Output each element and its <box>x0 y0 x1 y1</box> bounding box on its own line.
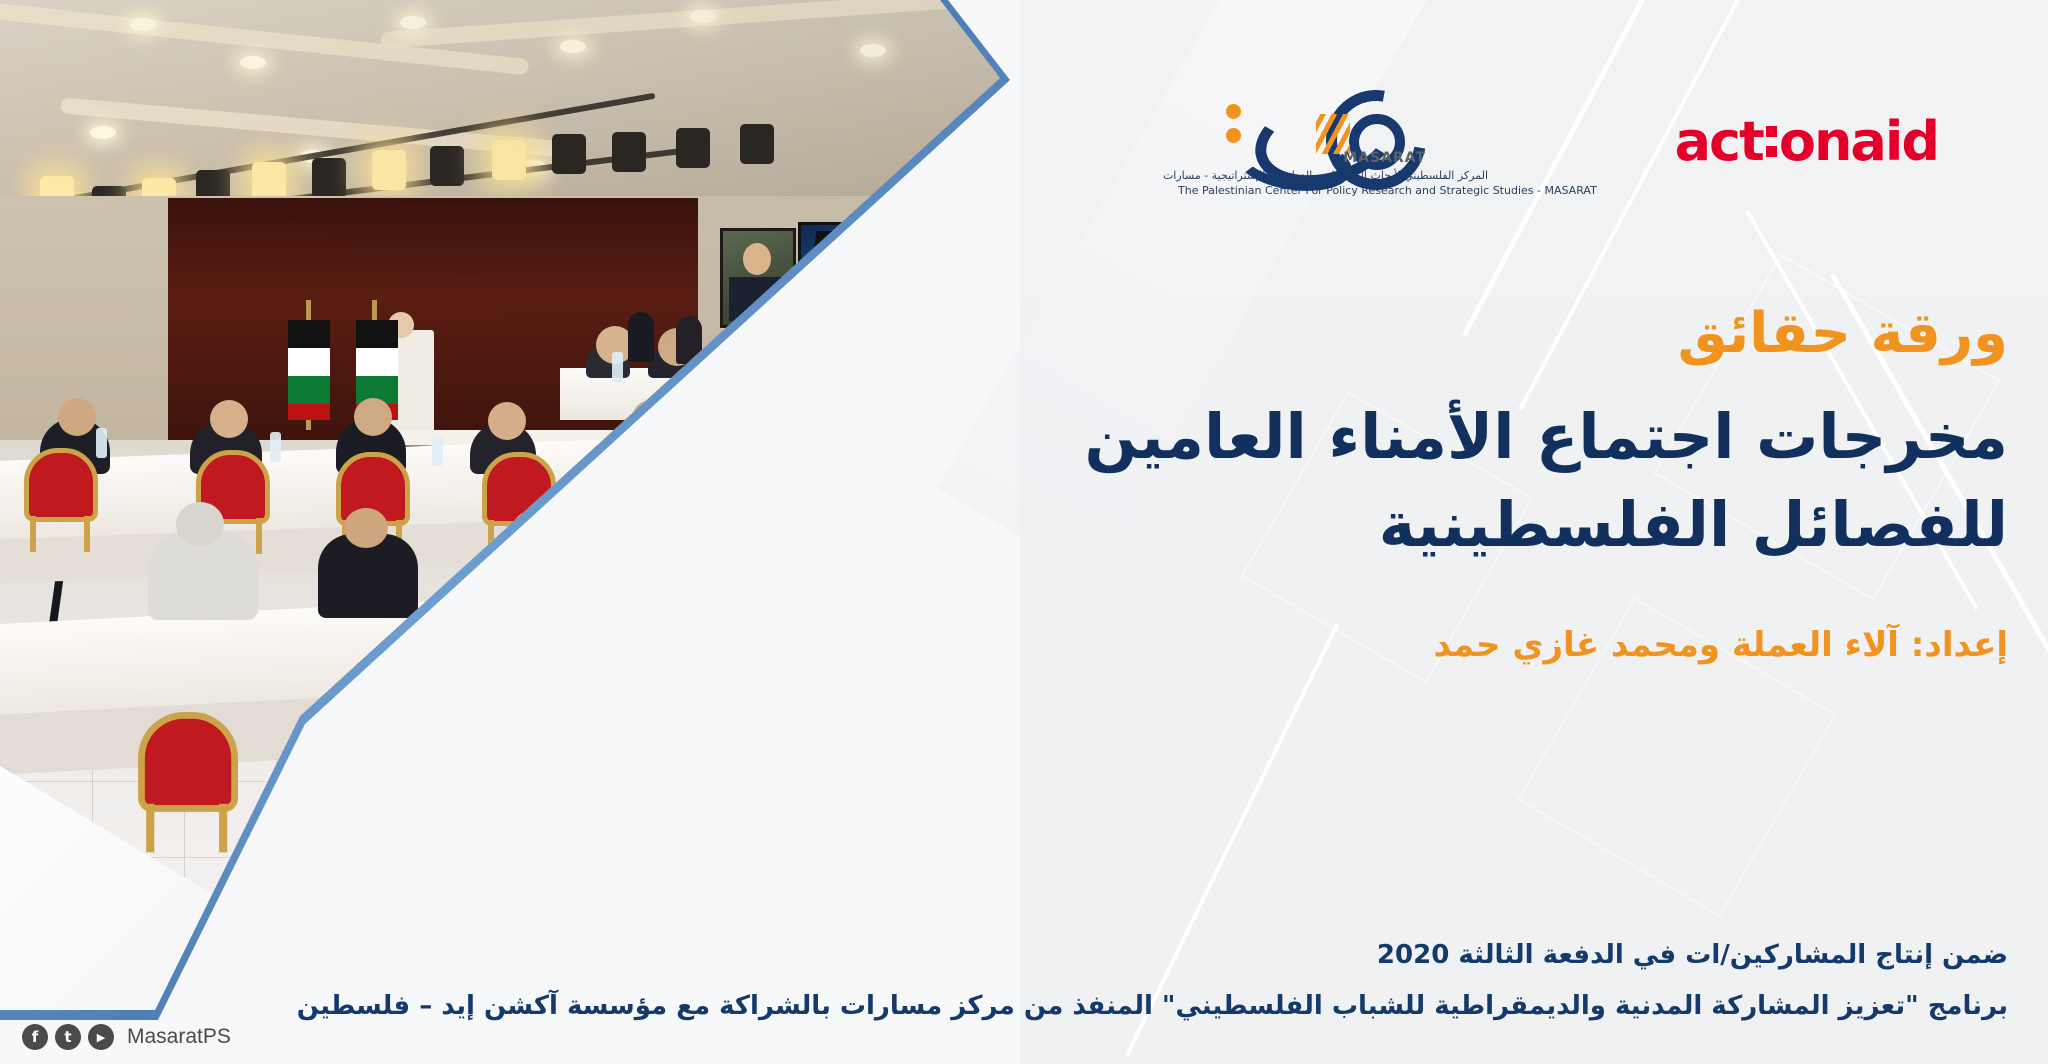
kicker-label: ورقة حقائق <box>1028 300 2008 367</box>
youtube-icon[interactable]: ▶ <box>88 1024 114 1050</box>
social-footer[interactable]: f t ▶ MasaratPS <box>22 1024 231 1050</box>
actionaid-logo: actonaid <box>1675 110 1938 173</box>
actionaid-text-before: act <box>1675 110 1763 173</box>
page-title-line2: للفصائل الفلسطينية <box>1028 481 2008 569</box>
twitter-icon[interactable]: t <box>55 1024 81 1050</box>
logo-row: MASARAT المركز الفلسطيني لأبحاث السياسات… <box>1028 84 2048 214</box>
poster-canvas: MASARAT المركز الفلسطيني لأبحاث السياسات… <box>0 0 2048 1064</box>
social-handle: MasaratPS <box>127 1025 231 1049</box>
masarat-mark-icon: MASARAT <box>1218 84 1448 164</box>
masarat-logo: MASARAT المركز الفلسطيني لأبحاث السياسات… <box>1178 84 1488 197</box>
actionaid-colon-icon <box>1763 120 1779 164</box>
masarat-wordmark: MASARAT <box>1343 150 1426 166</box>
page-title-line1: مخرجات اجتماع الأمناء العامين <box>1028 393 2008 481</box>
footnote-programme: برنامج "تعزيز المشاركة المدنية والديمقرا… <box>48 986 2008 1028</box>
actionaid-text-after: onaid <box>1779 110 1938 173</box>
byline-authors: إعداد: آلاء العملة ومحمد غازي حمد <box>1028 625 2008 665</box>
footnote-production: ضمن إنتاج المشاركين/ات في الدفعة الثالثة… <box>48 935 2008 977</box>
title-block: ورقة حقائق مخرجات اجتماع الأمناء العامين… <box>1028 300 2008 665</box>
facebook-icon[interactable]: f <box>22 1024 48 1050</box>
footnotes-block: ضمن إنتاج المشاركين/ات في الدفعة الثالثة… <box>48 935 2008 1028</box>
